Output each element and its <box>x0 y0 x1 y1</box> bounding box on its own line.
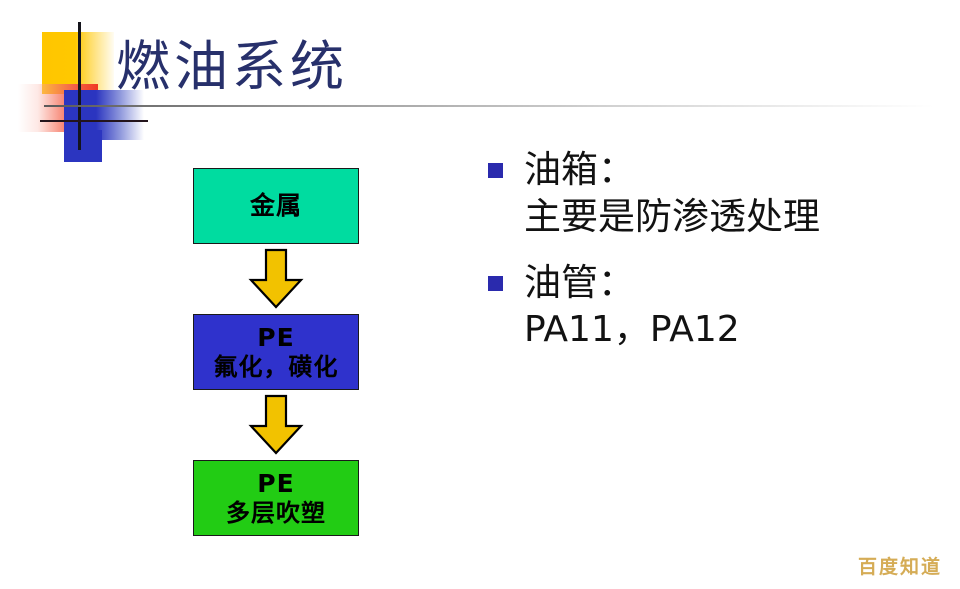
bullet-square-icon <box>488 163 503 178</box>
baidu-zhidao-watermark: 百度知道 <box>858 552 942 579</box>
bullet-head-fuel-line: 油管： <box>488 259 938 306</box>
bullet-sub-fuel-line: PA11，PA12 <box>524 307 938 354</box>
flow-step-pe-fluorination: PE 氟化，磺化 <box>193 314 359 390</box>
flow-step-pe-fluorination-label: PE <box>257 323 294 353</box>
bullet-head-fuel-tank: 油箱： <box>488 146 938 193</box>
logo-horizontal-line <box>40 120 148 122</box>
flow-step-pe-fluorination-sublabel: 氟化，磺化 <box>214 353 339 381</box>
bullet-label-fuel-line: 油管： <box>524 259 635 306</box>
flow-step-pe-multilayer: PE 多层吹塑 <box>193 460 359 536</box>
flow-step-metal-label: 金属 <box>250 191 302 221</box>
flow-step-pe-multilayer-sublabel: 多层吹塑 <box>226 499 326 527</box>
page-title: 燃油系统 <box>116 22 348 101</box>
flow-arrow-2 <box>193 390 359 460</box>
flow-arrow-1 <box>193 244 359 314</box>
bullet-sub-fuel-tank: 主要是防渗透处理 <box>524 193 938 241</box>
title-divider-rule <box>44 105 934 107</box>
bullet-label-fuel-tank: 油箱： <box>524 146 635 193</box>
logo-vertical-line <box>78 22 81 150</box>
flow-step-metal: 金属 <box>193 168 359 244</box>
flow-step-pe-multilayer-label: PE <box>257 469 294 499</box>
slide-canvas: 燃油系统 金属 PE 氟化，磺化 PE 多层吹塑 <box>0 0 960 589</box>
bullet-group-fuel-line: 油管： PA11，PA12 <box>488 259 938 353</box>
logo-blue-square-lower <box>64 130 102 162</box>
bullet-list: 油箱： 主要是防渗透处理 油管： PA11，PA12 <box>488 146 938 372</box>
bullet-group-fuel-tank: 油箱： 主要是防渗透处理 <box>488 146 938 241</box>
process-flowchart: 金属 PE 氟化，磺化 PE 多层吹塑 <box>193 168 363 536</box>
bullet-square-icon <box>488 276 503 291</box>
